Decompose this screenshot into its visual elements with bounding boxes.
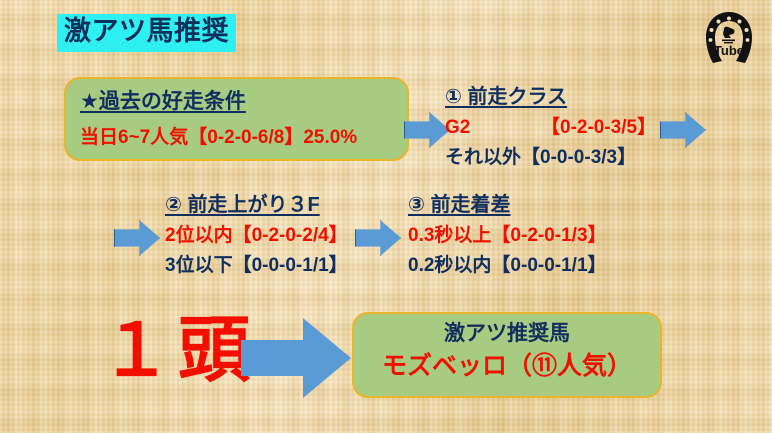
factor-2-row-1-value: 【0-2-0-2/4】 (233, 225, 348, 246)
horseshoe-tube-logo: Tube (699, 8, 759, 68)
factor-3-row-2-value: 【0-0-0-1/1】 (491, 255, 606, 276)
horse-count: １頭 (100, 315, 256, 387)
factor-1-row-2: それ以外【0-0-0-3/3】 (445, 145, 656, 171)
conditions-stat-line: 当日6~7人気【0-2-0-6/8】25.0% (80, 125, 407, 151)
factor-1-row-1: G2【0-2-0-3/5】 (445, 115, 656, 141)
right-arrow-icon (660, 112, 706, 148)
horse-glyph (722, 27, 735, 44)
factor-block-2: ② 前走上がり３F 2位以内【0-2-0-2/4】 3位以下【0-0-0-1/1… (165, 192, 348, 282)
factor-1-row-1-value: 【0-2-0-3/5】 (541, 117, 656, 138)
factor-3-row-2-label: 0.2秒以内 (408, 255, 491, 276)
right-arrow-large-shape (241, 318, 351, 398)
horseshoe-icon: Tube (699, 8, 759, 68)
past-conditions-box: ★過去の好走条件 当日6~7人気【0-2-0-6/8】25.0% (64, 77, 409, 161)
factor-1-heading: ① 前走クラス (445, 84, 656, 110)
factor-2-row-2-label: 3位以下 (165, 255, 233, 276)
right-arrow-icon (404, 112, 450, 148)
logo-text: Tube (714, 43, 744, 58)
conditions-heading: ★過去の好走条件 (80, 88, 407, 115)
right-arrow-icon (114, 220, 160, 256)
right-arrow-large-icon (241, 318, 351, 398)
recommended-horse-name: モズベッロ（⑪人気） (354, 350, 660, 383)
recommended-horse-label: 激アツ推奨馬 (354, 320, 660, 347)
right-arrow-icon (355, 220, 401, 256)
factor-3-row-1-value: 【0-2-0-1/3】 (491, 225, 606, 246)
factor-block-1: ① 前走クラス G2【0-2-0-3/5】 それ以外【0-0-0-3/3】 (445, 84, 656, 174)
page-title: 激アツ馬推奨 (57, 14, 236, 52)
factor-3-heading: ③ 前走着差 (408, 192, 607, 218)
factor-1-row-2-label: それ以外 (445, 147, 521, 168)
factor-3-row-2: 0.2秒以内【0-0-0-1/1】 (408, 253, 607, 279)
recommended-horse-box: 激アツ推奨馬 モズベッロ（⑪人気） (352, 312, 662, 398)
factor-3-row-1: 0.3秒以上【0-2-0-1/3】 (408, 223, 607, 249)
factor-2-row-1: 2位以内【0-2-0-2/4】 (165, 223, 348, 249)
factor-1-row-1-label: G2 (445, 115, 541, 141)
factor-block-3: ③ 前走着差 0.3秒以上【0-2-0-1/3】 0.2秒以内【0-0-0-1/… (408, 192, 607, 282)
factor-2-row-1-label: 2位以内 (165, 225, 233, 246)
factor-3-row-1-label: 0.3秒以上 (408, 225, 491, 246)
factor-2-row-2-value: 【0-0-0-1/1】 (233, 255, 348, 276)
slide-canvas: 激アツ馬推奨 Tube ★過去の好走条件 当日6~7人気【0-2-0-6/8】2… (0, 0, 772, 433)
factor-2-row-2: 3位以下【0-0-0-1/1】 (165, 253, 348, 279)
factor-1-row-2-value: 【0-0-0-3/3】 (521, 147, 636, 168)
factor-2-heading: ② 前走上がり３F (165, 192, 348, 218)
